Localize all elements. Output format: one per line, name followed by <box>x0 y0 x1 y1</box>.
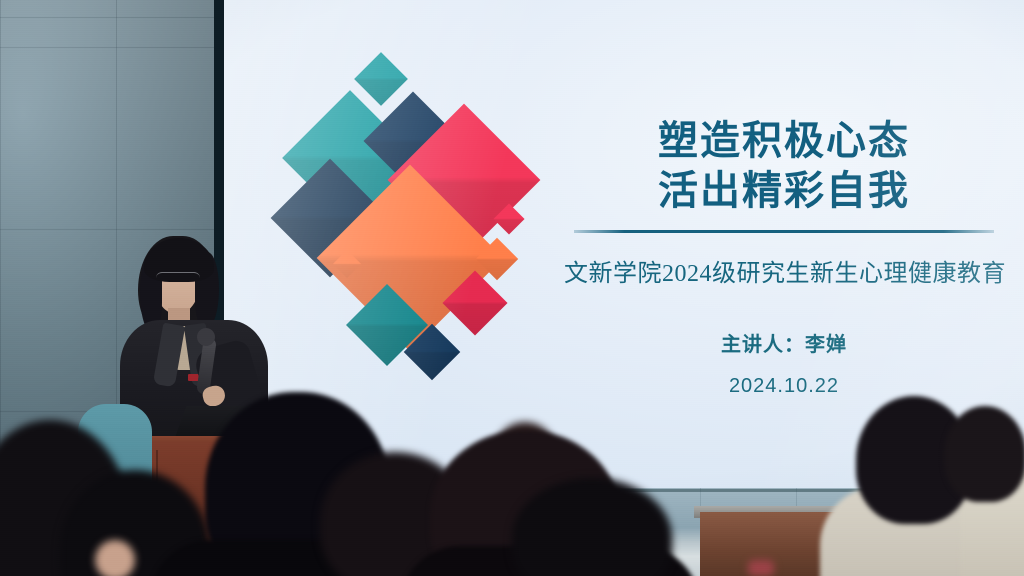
slide-date: 2024.10.22 <box>564 375 1004 398</box>
audience-neck-1 <box>95 540 135 576</box>
diamond-teal-top <box>354 52 408 106</box>
slide-text-block: 塑造积极心态 活出精彩自我 文新学院2024级研究生新生心理健康教育 主讲人：李… <box>564 116 1004 398</box>
audience-head-8 <box>944 406 1024 502</box>
title-divider-rule <box>574 230 994 233</box>
slide-title-line-1: 塑造积极心态 <box>564 116 1004 166</box>
audience-red-garment <box>748 560 774 576</box>
slide-speaker-line: 主讲人：李婵 <box>564 328 1004 357</box>
slide-title-line-2: 活出精彩自我 <box>564 166 1004 216</box>
presenter-glasses <box>156 272 200 285</box>
lecture-hall-photo: 塑造积极心态 活出精彩自我 文新学院2024级研究生新生心理健康教育 主讲人：李… <box>0 0 1024 576</box>
slide-subtitle: 文新学院2024级研究生新生心理健康教育 <box>564 253 1004 288</box>
